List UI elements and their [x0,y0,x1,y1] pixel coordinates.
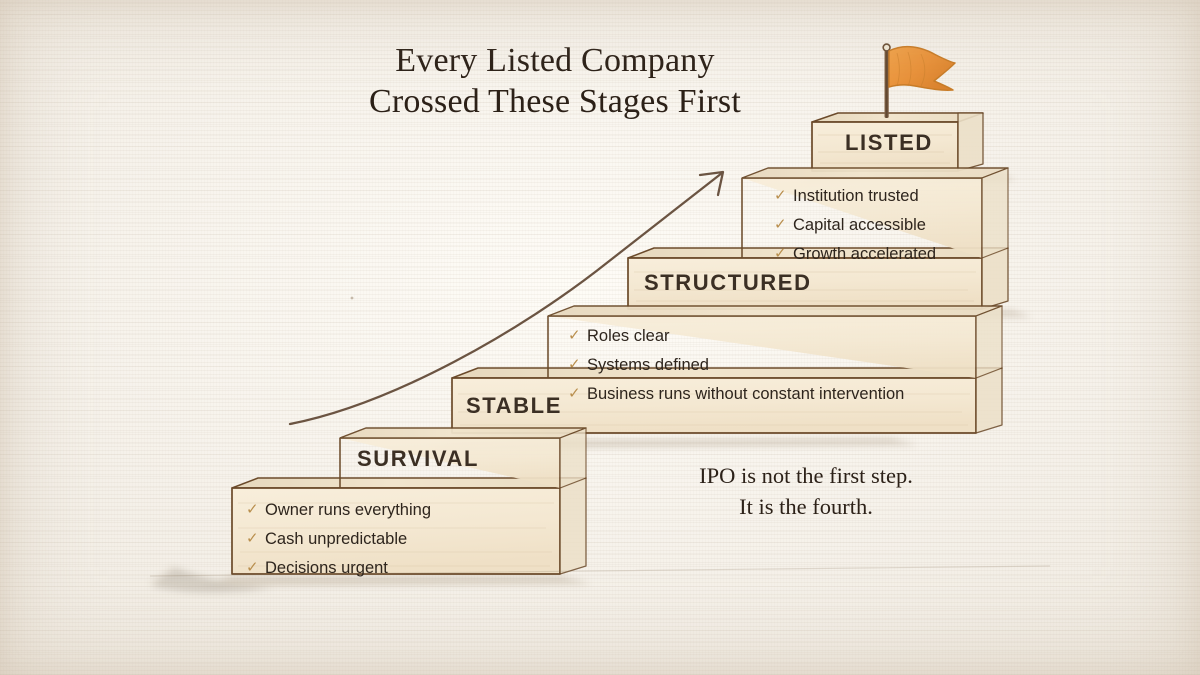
list-item-label: Systems defined [587,351,709,379]
list-item: ✓ Roles clear [568,322,904,351]
check-icon: ✓ [568,380,587,408]
list-item: ✓ Decisions urgent [246,554,431,583]
check-icon: ✓ [568,322,587,350]
page-title: Every Listed Company Crossed These Stage… [0,40,1110,122]
check-icon: ✓ [774,182,793,210]
caption-line-2: It is the fourth. [636,491,976,522]
list-item-label: Roles clear [587,322,670,350]
bullets-stable: ✓ Roles clear ✓ Systems defined ✓ Busine… [568,322,904,409]
title-line-2: Crossed These Stages First [0,81,1110,122]
step-label-listed: LISTED [845,130,933,156]
title-line-1: Every Listed Company [0,40,1110,81]
list-item: ✓ Systems defined [568,351,904,380]
list-item: ✓ Growth accelerated [774,240,936,269]
closing-caption: IPO is not the first step. It is the fou… [636,460,976,522]
check-icon: ✓ [246,525,265,553]
bullets-survival: ✓ Owner runs everything ✓ Cash unpredict… [246,496,431,583]
list-item-label: Growth accelerated [793,240,936,268]
list-item-label: Decisions urgent [265,554,388,582]
list-item-label: Institution trusted [793,182,919,210]
check-icon: ✓ [246,554,265,582]
list-item: ✓ Business runs without constant interve… [568,380,904,409]
bullets-listed: ✓ Institution trusted ✓ Capital accessib… [774,182,936,269]
list-item: ✓ Cash unpredictable [246,525,431,554]
list-item: ✓ Institution trusted [774,182,936,211]
list-item-label: Business runs without constant intervent… [587,380,904,408]
infographic-canvas: Every Listed Company Crossed These Stage… [0,0,1200,675]
step-label-stable: STABLE [466,393,562,419]
check-icon: ✓ [774,240,793,268]
pencil-dot [351,297,354,300]
list-item-label: Cash unpredictable [265,525,407,553]
list-item: ✓ Owner runs everything [246,496,431,525]
list-item-label: Capital accessible [793,211,926,239]
check-icon: ✓ [774,211,793,239]
check-icon: ✓ [246,496,265,524]
step-label-survival: SURVIVAL [357,446,479,472]
check-icon: ✓ [568,351,587,379]
caption-line-1: IPO is not the first step. [636,460,976,491]
list-item-label: Owner runs everything [265,496,431,524]
step-label-structured: STRUCTURED [644,270,812,296]
list-item: ✓ Capital accessible [774,211,936,240]
